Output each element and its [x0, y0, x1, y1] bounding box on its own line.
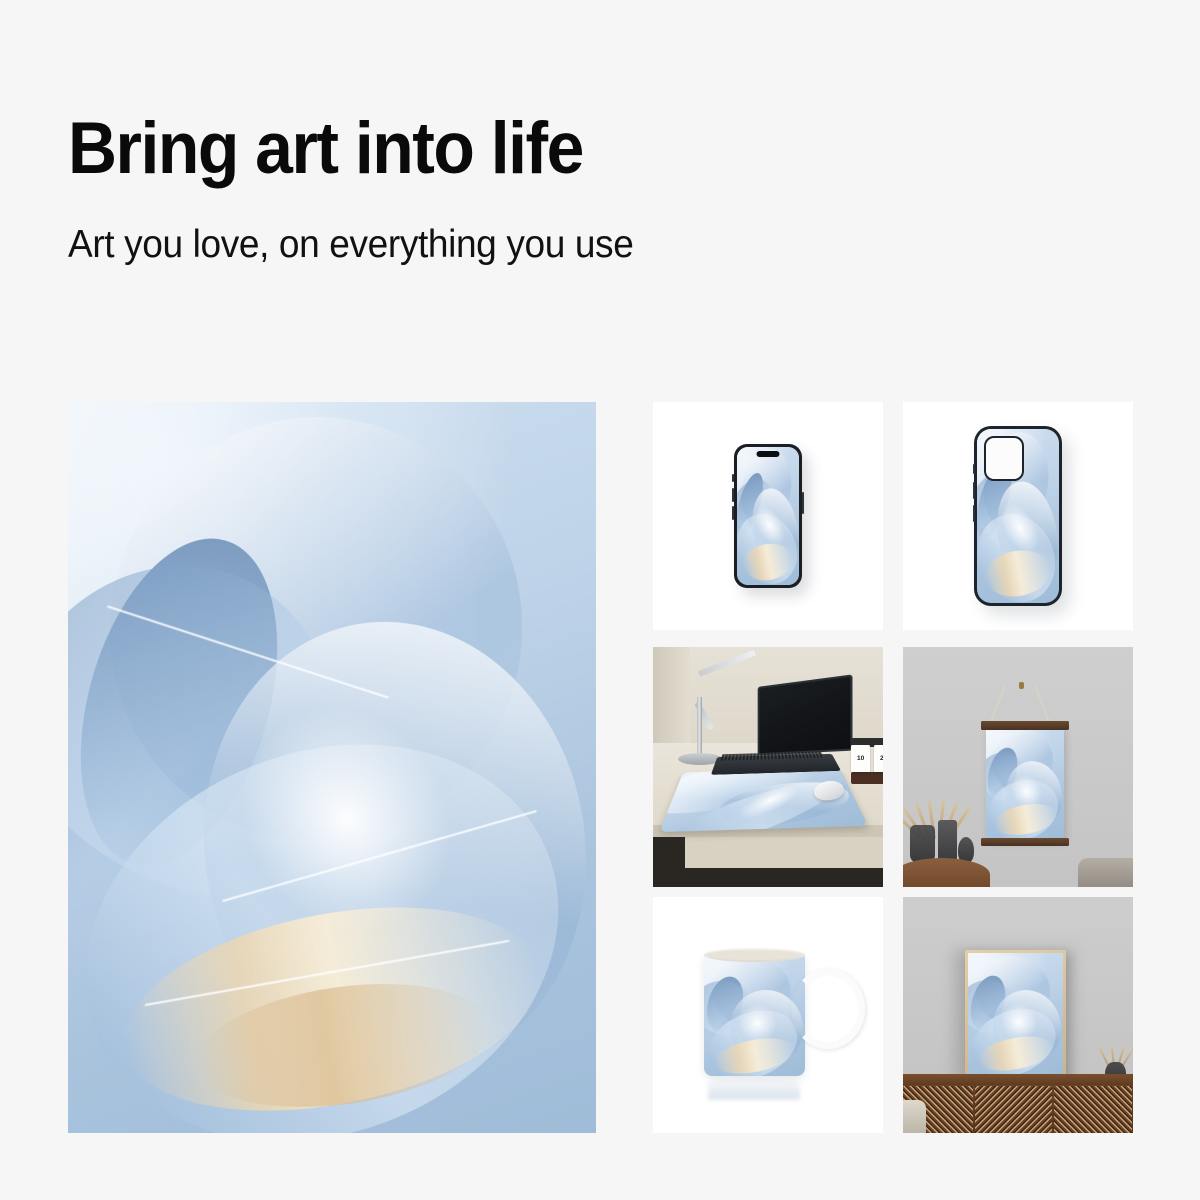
camera-cutout-icon [984, 436, 1024, 481]
tall-vase-icon [938, 820, 958, 863]
mug-reflection [708, 1076, 800, 1100]
phone-screen [737, 447, 800, 586]
product-tile-framed-print[interactable] [903, 897, 1133, 1133]
phone-case-stage [903, 402, 1133, 630]
mug-stage [653, 897, 883, 1133]
desk-scene: 10 26 [653, 647, 883, 887]
mug-handle [791, 969, 865, 1049]
wall-nail-icon [1019, 682, 1024, 689]
mug-body [704, 954, 805, 1077]
product-tile-desk-mat[interactable]: 10 26 [653, 647, 883, 887]
phone-case-device [974, 426, 1062, 606]
laptop-icon [758, 674, 852, 755]
poster-artwork [986, 727, 1064, 839]
artwork-silk-pattern [68, 402, 596, 1133]
product-showcase-page: Bring art into life Art you love, on eve… [0, 0, 1200, 1200]
artwork-on-phone [737, 447, 800, 586]
sideboard-door [975, 1086, 1053, 1133]
product-tile-phone-case[interactable] [903, 402, 1133, 630]
armchair [903, 1100, 926, 1133]
product-gallery: 10 26 [68, 402, 1133, 1134]
artwork-on-desk-mat [659, 769, 868, 832]
side-table [903, 858, 990, 887]
phone-mockup-stage [653, 402, 883, 630]
poster-room-scene [903, 647, 1133, 887]
poster-rail-bottom [981, 838, 1068, 846]
glass-vase-icon [910, 825, 935, 863]
artwork-on-mug [704, 954, 805, 1077]
artwork-in-frame [968, 953, 1063, 1074]
product-tile-mug[interactable] [653, 897, 883, 1133]
product-tile-hanging-poster[interactable] [903, 647, 1133, 887]
dried-plant-icon [1099, 1024, 1131, 1066]
hero-artwork-image[interactable] [68, 402, 596, 1133]
page-header: Bring art into life Art you love, on eve… [68, 112, 968, 267]
sofa [1078, 858, 1133, 887]
page-title: Bring art into life [68, 112, 905, 186]
smartphone-device [734, 444, 802, 588]
desk-mat-product [659, 769, 868, 832]
sideboard-door [1054, 1086, 1132, 1133]
case-printed-face [977, 429, 1059, 603]
calendar-day: 10 [851, 745, 871, 771]
product-tile-phone-wallpaper[interactable] [653, 402, 883, 630]
poster-rope [990, 685, 1006, 724]
dynamic-island-icon [757, 451, 780, 457]
poster-rail-top [981, 721, 1068, 729]
framed-print-room-scene [903, 897, 1133, 1133]
picture-frame [965, 950, 1066, 1077]
calendar-date: 26 [874, 745, 883, 771]
page-subtitle: Art you love, on everything you use [68, 186, 923, 267]
